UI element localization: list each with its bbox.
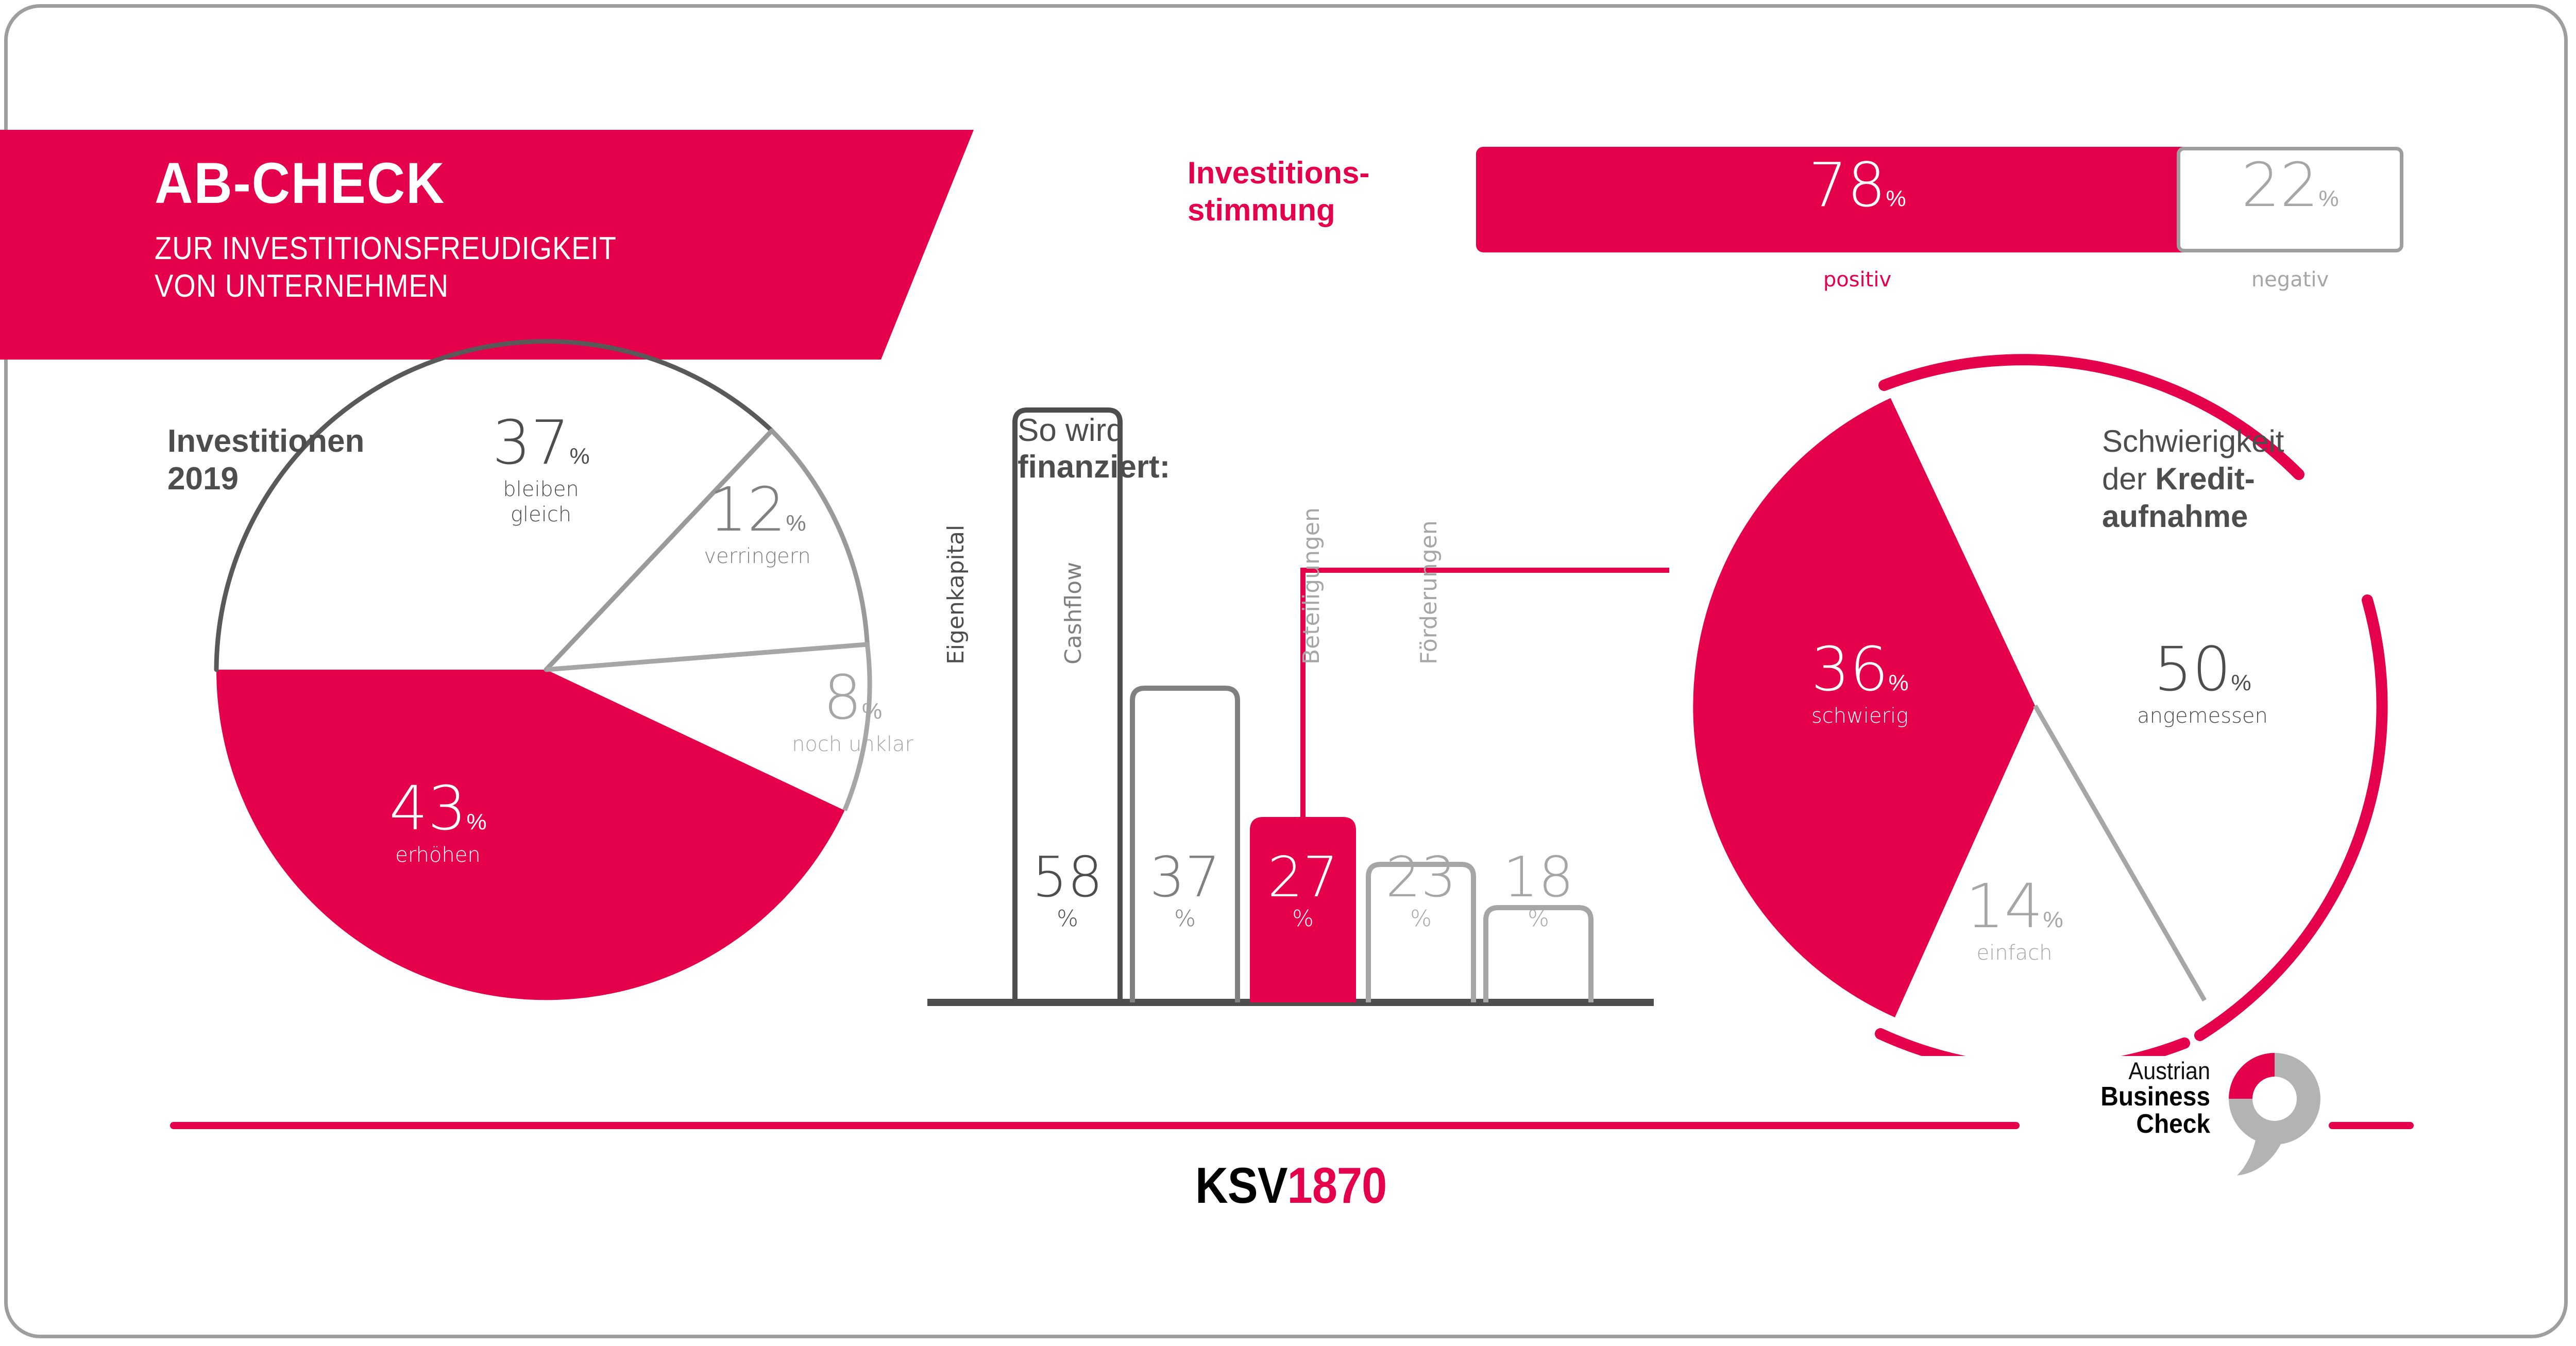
pie-left-segment-erhoehen: 43% erhöhen <box>330 778 546 868</box>
bar-value-eigenkapital-group: 58 % <box>1015 850 1120 932</box>
bar-value-foerderungen: 18 <box>1486 850 1591 906</box>
value-8: 8 <box>823 662 862 733</box>
title-bold-1: Kredit- <box>2155 462 2255 496</box>
caption-bleiben-gleich: bleiben gleich <box>433 477 649 527</box>
ksv1870-logo: KSV1870 <box>1195 1156 1386 1215</box>
value-36: 36 <box>1811 634 1888 705</box>
kreditaufnahme-pie-title: Schwierigkeit der Kredit- aufnahme <box>2102 422 2391 536</box>
kredite-connector-line <box>1303 570 1669 817</box>
abc-nine-mark-icon <box>2226 1050 2324 1179</box>
value-37: 37 <box>492 407 569 478</box>
pie-right-segment-angemessen: 50% angemessen <box>2094 639 2311 729</box>
bar-value-cashflow-group: 37 % <box>1132 850 1238 932</box>
caption-angemessen: angemessen <box>2094 704 2311 729</box>
pie-left-segment-bleiben-gleich: 37% bleiben gleich <box>433 412 649 527</box>
bar-label-kredite-wrap: Kredite <box>1181 489 1217 665</box>
value-12: 12 <box>708 474 786 545</box>
sentiment-label: Investitions- stimmung <box>1188 155 1369 229</box>
bar-label-cashflow: Cashflow <box>1060 562 1087 665</box>
sentiment-positive-value-group: 78% <box>1476 155 2239 215</box>
infographic-canvas: AB-CHECK ZUR INVESTITIONSFREUDIGKEIT VON… <box>0 0 2576 1346</box>
bar-percent-foerderungen: % <box>1486 906 1591 932</box>
percent-sign: % <box>862 698 882 724</box>
sentiment-negative-percent-sign: % <box>2319 186 2339 211</box>
percent-sign: % <box>2043 907 2063 932</box>
investitionen-pie-title: Investitionen 2019 <box>167 422 364 498</box>
value-50: 50 <box>2154 634 2231 705</box>
pie-right-segment-einfach: 14% einfach <box>1906 876 2123 966</box>
barchart-title: So wird finanziert: <box>1018 412 1285 486</box>
pie-ring-arc-bottom <box>1880 1034 2184 1056</box>
bar-label-kredite: Kredite <box>1181 583 1207 665</box>
bar-label-foerderungen: Förderungen <box>1416 520 1442 665</box>
bar-label-foerderungen-wrap: Förderungen <box>1416 458 1452 665</box>
title-bold-2: aufnahme <box>2102 499 2248 534</box>
bar-value-eigenkapital: 58 <box>1015 850 1120 906</box>
bar-value-foerderungen-group: 18 % <box>1486 850 1591 932</box>
value-14: 14 <box>1965 871 2043 942</box>
bar-percent-beteiligungen: % <box>1368 906 1473 932</box>
page-title: AB-CHECK <box>155 155 866 212</box>
caption-schwierig: schwierig <box>1752 704 1968 729</box>
pie-left-segment-verringern: 12% verringern <box>659 479 855 569</box>
bar-value-beteiligungen: 23 <box>1368 850 1473 906</box>
caption-erhoehen: erhöhen <box>330 843 546 868</box>
bar-label-eigenkapital-wrap: Eigenkapital <box>943 489 979 665</box>
bar-value-kredite-group: 27 % <box>1250 850 1356 932</box>
sentiment-positive-caption: positiv <box>1476 268 2239 292</box>
bar-percent-cashflow: % <box>1132 906 1238 932</box>
barchart-title-line1: So wird <box>1018 412 1285 449</box>
abc-line-check: Check <box>2068 1111 2210 1138</box>
title-plain-1: Schwierigkeit <box>2102 424 2284 458</box>
bar-percent-kredite: % <box>1250 906 1356 932</box>
footer-divider-left <box>170 1122 2020 1129</box>
percent-sign: % <box>467 809 487 834</box>
bar-percent-eigenkapital: % <box>1015 906 1120 932</box>
percent-sign: % <box>1889 670 1909 695</box>
barchart-title-line2: finanziert: <box>1018 449 1285 485</box>
sentiment-negative-caption: negativ <box>2177 268 2403 292</box>
sentiment-negative-value: 22 <box>2241 149 2318 220</box>
sentiment-negative-value-group: 22% <box>2177 155 2403 215</box>
bar-label-beteiligungen: Beteiligungen <box>1298 507 1325 665</box>
percent-sign: % <box>570 444 590 469</box>
abc-line-business: Business <box>2068 1083 2210 1111</box>
bar-label-eigenkapital: Eigenkapital <box>943 525 969 665</box>
percent-sign: % <box>2231 670 2251 695</box>
title-plain-2: der <box>2102 462 2155 496</box>
page-subtitle: ZUR INVESTITIONSFREUDIGKEIT VON UNTERNEH… <box>155 230 835 305</box>
percent-sign: % <box>786 510 806 536</box>
ksv-logo-black: KSV <box>1195 1157 1287 1214</box>
caption-einfach: einfach <box>1906 941 2123 966</box>
bar-label-beteiligungen-wrap: Beteiligungen <box>1298 458 1334 665</box>
caption-verringern: verringern <box>659 544 855 569</box>
austrian-business-check-wordmark: Austrian Business Check <box>2068 1059 2210 1138</box>
bar-label-cashflow-wrap: Cashflow <box>1060 489 1096 665</box>
bar-value-cashflow: 37 <box>1132 850 1238 906</box>
header-text-block: AB-CHECK ZUR INVESTITIONSFREUDIGKEIT VON… <box>155 155 927 305</box>
ksv-logo-red: 1870 <box>1287 1157 1387 1214</box>
sentiment-positive-value: 78 <box>1808 149 1886 220</box>
value-43: 43 <box>389 773 466 844</box>
footer-divider-right <box>2329 1122 2414 1129</box>
bar-value-beteiligungen-group: 23 % <box>1368 850 1473 932</box>
pie-right-segment-schwierig: 36% schwierig <box>1752 639 1968 729</box>
bar-value-kredite: 27 <box>1250 850 1356 906</box>
sentiment-positive-percent-sign: % <box>1886 186 1906 211</box>
abc-line-austrian: Austrian <box>2068 1059 2210 1083</box>
